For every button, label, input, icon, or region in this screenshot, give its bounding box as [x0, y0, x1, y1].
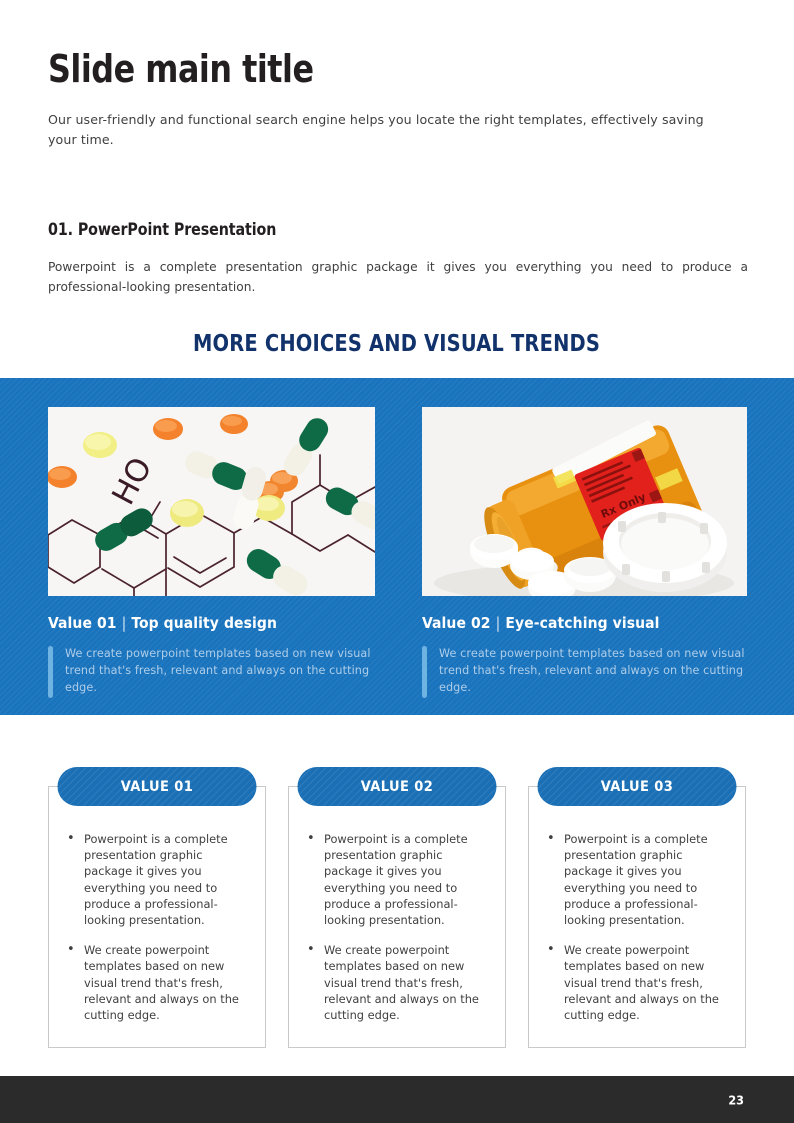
slide-header: Slide main title Our user-friendly and f… [48, 50, 748, 151]
section-heading: 01. PowerPoint Presentation [48, 220, 720, 239]
page-subtitle: Our user-friendly and functional search … [48, 110, 720, 151]
value-card-1-label: VALUE 01 [121, 779, 193, 795]
value-cards-row: VALUE 01 Powerpoint is a complete presen… [48, 786, 746, 1048]
value-card-2-label: VALUE 02 [361, 779, 433, 795]
value-card-3-label: VALUE 03 [601, 779, 673, 795]
feature-separator-1: | [122, 614, 127, 632]
slide-footer: 23 [0, 1076, 794, 1123]
slide-canvas: Slide main title Our user-friendly and f… [0, 0, 794, 1123]
accent-bar-2 [422, 646, 427, 698]
center-heading: MORE CHOICES AND VISUAL TRENDS [0, 331, 794, 357]
feature-column-2: Rx Only [422, 407, 747, 698]
feature-body-1: We create powerpoint templates based on … [48, 645, 375, 698]
list-item: We create powerpoint templates based on … [63, 942, 249, 1023]
feature-subtitle-2: Eye-catching visual [505, 614, 659, 632]
feature-separator-2: | [496, 614, 501, 632]
value-card-2[interactable]: VALUE 02 Powerpoint is a complete presen… [288, 786, 506, 1048]
value-card-3-list: Powerpoint is a complete presentation gr… [543, 831, 729, 1023]
value-card-3-pill[interactable]: VALUE 03 [538, 767, 737, 806]
list-item: Powerpoint is a complete presentation gr… [303, 831, 489, 928]
feature-title-2: Value 02|Eye-catching visual [422, 614, 747, 632]
value-card-1-list: Powerpoint is a complete presentation gr… [63, 831, 249, 1023]
feature-column-1: HO [48, 407, 375, 698]
list-item: We create powerpoint templates based on … [303, 942, 489, 1023]
center-heading-label: MORE CHOICES AND VISUAL TRENDS [193, 331, 600, 357]
feature-label-1: Value 01 [48, 614, 117, 632]
prescription-pill-bottle-photo: Rx Only [422, 407, 747, 596]
blue-feature-band: HO [0, 378, 794, 715]
list-item: Powerpoint is a complete presentation gr… [63, 831, 249, 928]
section-powerpoint-presentation: 01. PowerPoint Presentation Powerpoint i… [48, 220, 748, 298]
page-title: Slide main title [48, 50, 699, 90]
feature-label-2: Value 02 [422, 614, 491, 632]
value-card-1[interactable]: VALUE 01 Powerpoint is a complete presen… [48, 786, 266, 1048]
feature-text-1: We create powerpoint templates based on … [65, 645, 375, 698]
feature-title-1: Value 01|Top quality design [48, 614, 375, 632]
list-item: We create powerpoint templates based on … [543, 942, 729, 1023]
list-item: Powerpoint is a complete presentation gr… [543, 831, 729, 928]
accent-bar-1 [48, 646, 53, 698]
section-body-text: Powerpoint is a complete presentation gr… [48, 258, 748, 298]
feature-subtitle-1: Top quality design [131, 614, 277, 632]
value-card-2-list: Powerpoint is a complete presentation gr… [303, 831, 489, 1023]
value-card-1-pill[interactable]: VALUE 01 [58, 767, 257, 806]
value-card-3[interactable]: VALUE 03 Powerpoint is a complete presen… [528, 786, 746, 1048]
feature-text-2: We create powerpoint templates based on … [439, 645, 747, 698]
page-number: 23 [728, 1092, 744, 1107]
value-card-2-pill[interactable]: VALUE 02 [298, 767, 497, 806]
feature-body-2: We create powerpoint templates based on … [422, 645, 747, 698]
pills-on-chemical-structure-photo: HO [48, 407, 375, 596]
